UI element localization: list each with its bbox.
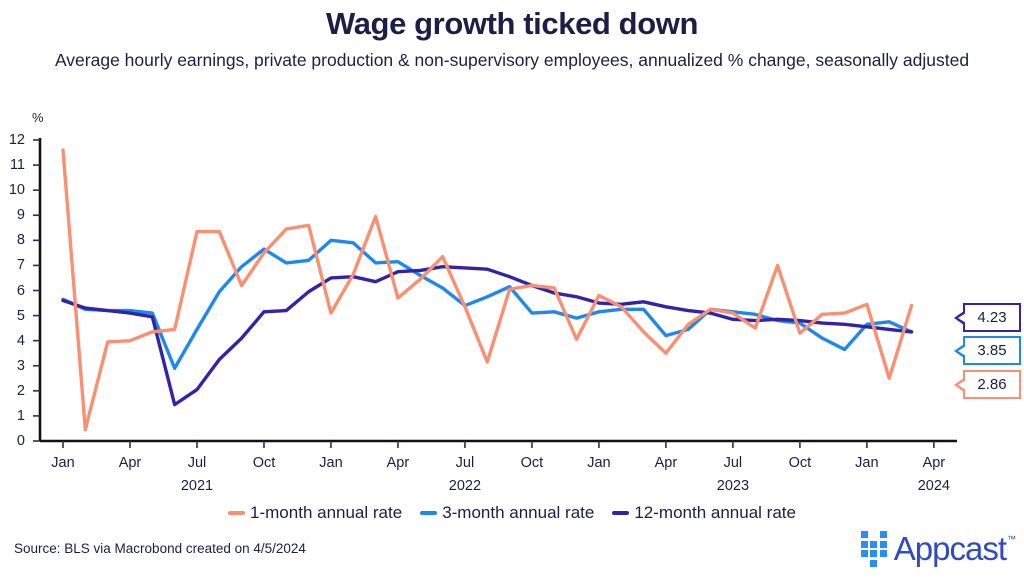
chart-svg xyxy=(0,0,1024,573)
y-axis-tick-9: 9 xyxy=(0,208,25,223)
x-axis-tick-jan-0: Jan xyxy=(33,456,93,471)
source-note: Source: BLS via Macrobond created on 4/5… xyxy=(14,541,306,556)
legend-label: 3-month annual rate xyxy=(442,503,594,523)
x-axis-tick-apr-13: Apr xyxy=(904,456,964,471)
logo-wordmark: Appcast xyxy=(894,532,1006,565)
x-axis-tick-jul-6: Jul xyxy=(435,456,495,471)
y-axis-tick-7: 7 xyxy=(0,258,25,273)
x-axis-tick-jul-10: Jul xyxy=(703,456,763,471)
callout-value: 3.85 xyxy=(977,342,1006,359)
logo-trademark: ™ xyxy=(1007,534,1016,544)
line-chart-plot xyxy=(0,0,1024,573)
legend-item-1-month-annual-rate[interactable]: 1-month annual rate xyxy=(228,503,402,523)
callout-tail-inner-icon xyxy=(958,346,966,356)
y-axis-tick-11: 11 xyxy=(0,158,25,173)
x-axis-year-2023: 2023 xyxy=(703,479,763,494)
legend-item-12-month-annual-rate[interactable]: 12-month annual rate xyxy=(612,503,796,523)
legend-label: 1-month annual rate xyxy=(250,503,402,523)
y-axis-tick-6: 6 xyxy=(0,284,25,299)
x-axis-year-2022: 2022 xyxy=(435,479,495,494)
legend-swatch-icon xyxy=(228,511,245,516)
x-axis-tick-jan-12: Jan xyxy=(837,456,897,471)
callout-tail-inner-icon xyxy=(958,380,966,390)
x-axis-year-2024: 2024 xyxy=(904,479,964,494)
y-axis-tick-1: 1 xyxy=(0,409,25,424)
y-axis-tick-5: 5 xyxy=(0,309,25,324)
chart-page: Wage growth ticked down Average hourly e… xyxy=(0,0,1024,573)
legend-item-3-month-annual-rate[interactable]: 3-month annual rate xyxy=(420,503,594,523)
y-axis-tick-4: 4 xyxy=(0,334,25,349)
chart-legend: 1-month annual rate3-month annual rate12… xyxy=(0,503,1024,523)
y-axis-tick-3: 3 xyxy=(0,359,25,374)
callout-3.85: 3.85 xyxy=(963,336,1021,365)
x-axis-tick-jan-4: Jan xyxy=(301,456,361,471)
appcast-logo: Appcast ™ xyxy=(861,528,1016,568)
series-line-1-month-annual-rate xyxy=(63,150,912,430)
x-axis-tick-apr-9: Apr xyxy=(636,456,696,471)
x-axis-tick-apr-5: Apr xyxy=(368,456,428,471)
callout-4.23: 4.23 xyxy=(963,303,1021,332)
logo-grid-icon xyxy=(861,531,887,567)
y-axis-tick-2: 2 xyxy=(0,384,25,399)
callout-2.86: 2.86 xyxy=(963,370,1021,399)
y-axis-tick-0: 0 xyxy=(0,434,25,449)
x-axis-tick-jul-2: Jul xyxy=(167,456,227,471)
x-axis-tick-oct-3: Oct xyxy=(234,456,294,471)
x-axis-tick-jan-8: Jan xyxy=(569,456,629,471)
legend-label: 12-month annual rate xyxy=(634,503,796,523)
x-axis-tick-oct-7: Oct xyxy=(502,456,562,471)
x-axis-year-2021: 2021 xyxy=(167,479,227,494)
y-axis-tick-8: 8 xyxy=(0,233,25,248)
callout-value: 4.23 xyxy=(977,309,1006,326)
x-axis-tick-oct-11: Oct xyxy=(770,456,830,471)
callout-tail-inner-icon xyxy=(958,313,966,323)
x-axis-tick-apr-1: Apr xyxy=(100,456,160,471)
legend-swatch-icon xyxy=(420,511,437,516)
legend-swatch-icon xyxy=(612,511,629,516)
callout-value: 2.86 xyxy=(977,376,1006,393)
y-axis-tick-10: 10 xyxy=(0,183,25,198)
y-axis-tick-12: 12 xyxy=(0,133,25,148)
